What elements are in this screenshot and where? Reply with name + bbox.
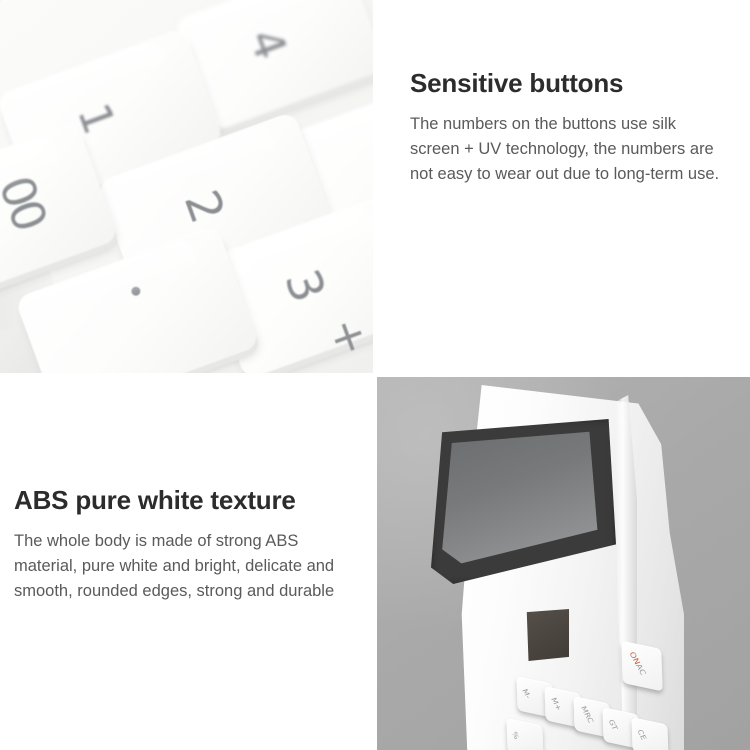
sensitive-buttons-text-panel: Sensitive buttons The numbers on the but… [377, 0, 750, 373]
function-key-label-mrc: MRC [579, 705, 595, 724]
device-photo-panel: ONAC M- M+ MRC GT CE % [377, 377, 750, 750]
keypad-photo-panel: 4 1 2 00 3 + [0, 0, 373, 373]
function-key-label-gt: GT [607, 718, 620, 731]
solar-panel [525, 609, 569, 661]
on-ac-label: ONAC [628, 651, 648, 677]
function-key-label-ce: CE [636, 729, 649, 741]
function-key-label-m-minus: M- [520, 688, 532, 700]
ac-label: AC [634, 663, 647, 677]
product-feature-collage: 4 1 2 00 3 + Sensitive buttons The numbe… [0, 0, 750, 750]
key-label-2: 2 [177, 185, 231, 229]
abs-texture-text-panel: ABS pure white texture The whole body is… [0, 377, 373, 750]
key-label-3: 3 [277, 264, 331, 308]
function-key-label-m-plus: M+ [549, 696, 563, 711]
key-label-00: 00 [0, 170, 52, 233]
abs-texture-heading: ABS pure white texture [14, 485, 296, 516]
sensitive-buttons-heading: Sensitive buttons [410, 68, 623, 99]
on-ac-button: ONAC [621, 641, 662, 692]
abs-texture-body: The whole body is made of strong ABS mat… [14, 529, 344, 604]
function-key-label-percent: % [510, 731, 521, 741]
key-label-4: 4 [242, 24, 293, 65]
sensitive-buttons-body: The numbers on the buttons use silk scre… [410, 112, 730, 187]
decimal-point-glyph [130, 285, 142, 297]
